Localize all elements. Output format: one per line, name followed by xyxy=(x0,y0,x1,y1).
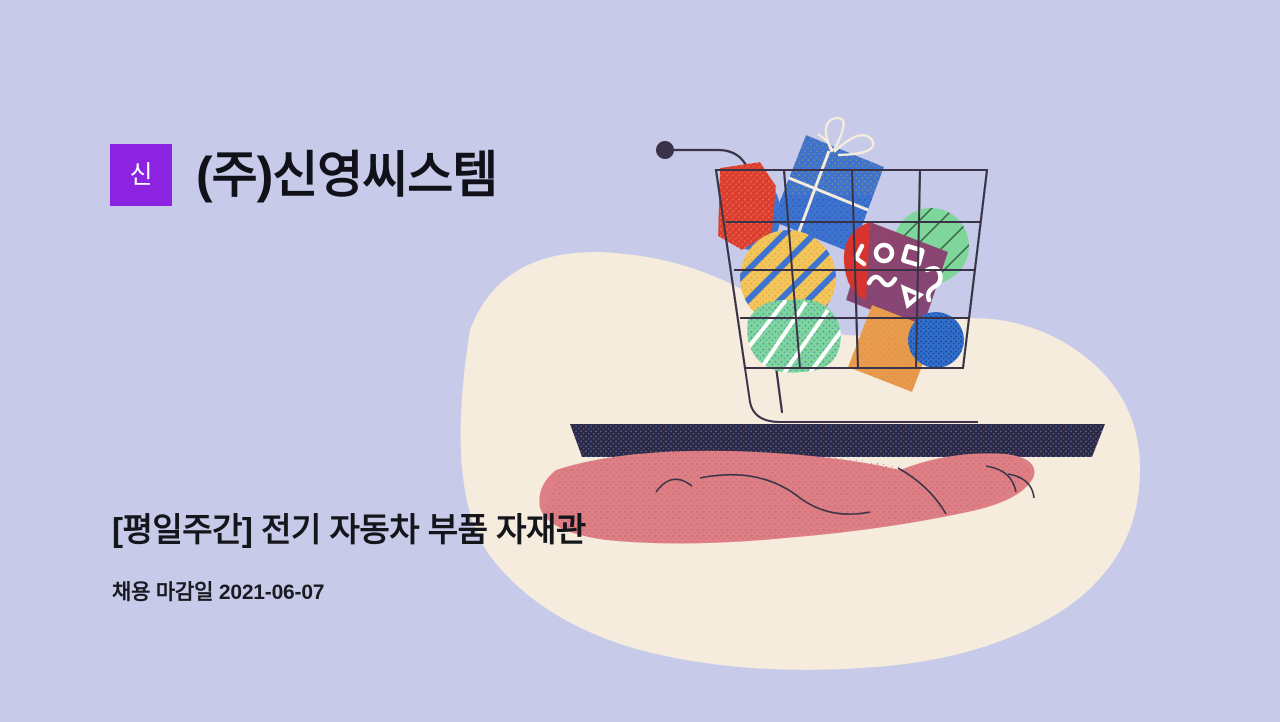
company-badge: 신 xyxy=(110,144,172,206)
company-header: 신 (주)신영씨스템 xyxy=(110,139,497,211)
job-posting-card: 신 (주)신영씨스템 [평일주간] 전기 자동차 부품 자재관 채용 마감일 2… xyxy=(0,0,1280,722)
company-name: (주)신영씨스템 xyxy=(196,150,497,200)
application-deadline: 채용 마감일 2021-06-07 xyxy=(112,576,324,606)
job-title: [평일주간] 전기 자동차 부품 자재관 xyxy=(112,503,586,551)
text-overlay: 신 (주)신영씨스템 [평일주간] 전기 자동차 부품 자재관 채용 마감일 2… xyxy=(0,0,1280,722)
